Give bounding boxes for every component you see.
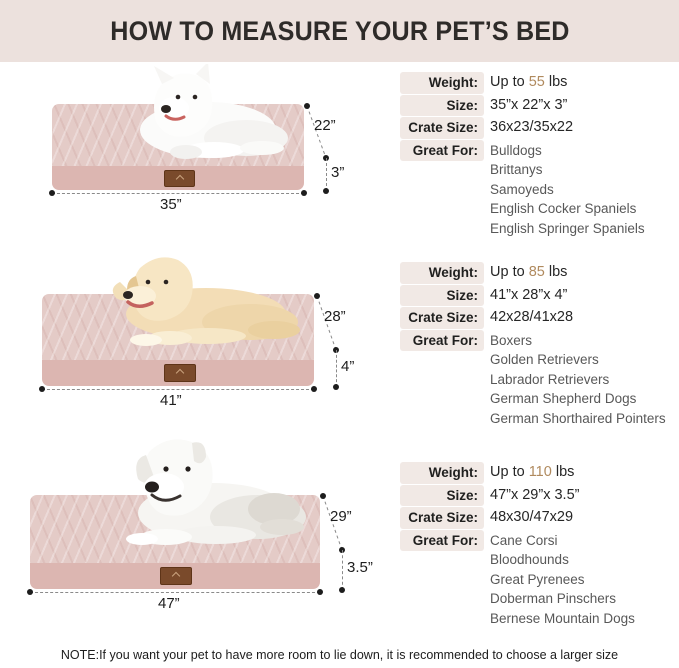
breed-item: Boxers xyxy=(490,331,666,351)
breed-item: Labrador Retrievers xyxy=(490,370,666,390)
bed-illustration-medium: 35” 22” 3” xyxy=(0,62,400,252)
bed-illustration-xlarge: 47” 29” 3.5” xyxy=(0,437,400,637)
spec-line-great-for: Great For: Boxers Golden Retrievers Labr… xyxy=(400,330,679,429)
dim-label-height: 3.5” xyxy=(347,559,373,576)
spec-line-size: Size: 35”x 22”x 3” xyxy=(400,95,679,117)
dim-dot xyxy=(304,103,310,109)
spec-label-weight: Weight: xyxy=(400,72,484,94)
spec-value-crate-size: 36x23/35x22 xyxy=(490,117,573,138)
breed-item: Bernese Mountain Dogs xyxy=(490,609,635,629)
spec-line-size: Size: 47”x 29”x 3.5” xyxy=(400,485,679,507)
dimline-height xyxy=(326,158,327,191)
spec-value-weight: Up to 55 lbs xyxy=(490,72,567,93)
spec-value-crate-size: 42x28/41x28 xyxy=(490,307,573,328)
dog-bed-xlarge xyxy=(30,495,320,595)
spec-label-size: Size: xyxy=(400,95,484,117)
weight-number: 110 xyxy=(529,464,552,480)
breed-item: Brittanys xyxy=(490,160,645,180)
bed-row-large: 41” 28” 4” Weight: Up to 85 lbs Size: 41… xyxy=(0,252,679,437)
bed-row-medium: 35” 22” 3” Weight: Up to 55 lbs Size: 35… xyxy=(0,62,679,252)
weight-number: 55 xyxy=(529,74,545,90)
spec-value-weight: Up to 85 lbs xyxy=(490,262,567,283)
breed-item: German Shepherd Dogs xyxy=(490,389,666,409)
dim-dot xyxy=(317,589,323,595)
dimline-length xyxy=(52,193,304,194)
spec-line-weight: Weight: Up to 85 lbs xyxy=(400,262,679,284)
spec-label-crate-size: Crate Size: xyxy=(400,307,484,329)
dim-label-length: 41” xyxy=(160,392,182,409)
spec-label-size: Size: xyxy=(400,485,484,507)
bed-top-surface xyxy=(42,294,314,362)
dim-label-height: 4” xyxy=(341,358,354,375)
spec-block-xlarge: Weight: Up to 110 lbs Size: 47”x 29”x 3.… xyxy=(400,437,679,629)
dim-label-length: 47” xyxy=(158,595,180,612)
spec-label-crate-size: Crate Size: xyxy=(400,507,484,529)
spec-line-great-for: Great For: Cane Corsi Bloodhounds Great … xyxy=(400,530,679,629)
weight-number: 85 xyxy=(529,264,545,280)
footer-note: NOTE:If you want your pet to have more r… xyxy=(0,648,679,662)
dim-dot xyxy=(27,589,33,595)
spec-value-size: 47”x 29”x 3.5” xyxy=(490,485,579,506)
page-header: HOW TO MEASURE YOUR PET’S BED xyxy=(0,0,679,62)
breed-list-large: Boxers Golden Retrievers Labrador Retrie… xyxy=(490,330,666,429)
bed-logo-tag xyxy=(164,170,195,187)
dim-label-width: 29” xyxy=(330,508,352,525)
page-title: HOW TO MEASURE YOUR PET’S BED xyxy=(110,16,569,47)
dim-label-width: 28” xyxy=(324,308,346,325)
spec-value-weight: Up to 110 lbs xyxy=(490,462,574,483)
bed-illustration-large: 41” 28” 4” xyxy=(0,252,400,437)
spec-block-large: Weight: Up to 85 lbs Size: 41”x 28”x 4” … xyxy=(400,252,679,429)
spec-block-medium: Weight: Up to 55 lbs Size: 35”x 22”x 3” … xyxy=(400,62,679,239)
dim-dot xyxy=(320,493,326,499)
breed-item: Great Pyrenees xyxy=(490,570,635,590)
dim-dot xyxy=(49,190,55,196)
spec-line-weight: Weight: Up to 110 lbs xyxy=(400,462,679,484)
bed-top-surface xyxy=(30,495,320,565)
spec-label-crate-size: Crate Size: xyxy=(400,117,484,139)
spec-value-size: 35”x 22”x 3” xyxy=(490,95,567,116)
spec-line-crate: Crate Size: 42x28/41x28 xyxy=(400,307,679,329)
dimline-length xyxy=(42,389,314,390)
spec-line-size: Size: 41”x 28”x 4” xyxy=(400,285,679,307)
breed-item: Bulldogs xyxy=(490,141,645,161)
dim-label-length: 35” xyxy=(160,196,182,213)
spec-line-great-for: Great For: Bulldogs Brittanys Samoyeds E… xyxy=(400,140,679,239)
dim-dot xyxy=(323,188,329,194)
breed-item: English Cocker Spaniels xyxy=(490,199,645,219)
dimline-length xyxy=(30,592,320,593)
breed-list-medium: Bulldogs Brittanys Samoyeds English Cock… xyxy=(490,140,645,239)
bed-top-surface xyxy=(52,104,304,168)
breed-list-xlarge: Cane Corsi Bloodhounds Great Pyrenees Do… xyxy=(490,530,635,629)
dim-dot xyxy=(314,293,320,299)
spec-line-crate: Crate Size: 36x23/35x22 xyxy=(400,117,679,139)
spec-label-great-for: Great For: xyxy=(400,330,484,352)
spec-value-crate-size: 48x30/47x29 xyxy=(490,507,573,528)
breed-item: Doberman Pinschers xyxy=(490,589,635,609)
bed-logo-tag xyxy=(160,567,192,585)
breed-item: Golden Retrievers xyxy=(490,350,666,370)
spec-line-weight: Weight: Up to 55 lbs xyxy=(400,72,679,94)
dim-dot xyxy=(301,190,307,196)
breed-item: Bloodhounds xyxy=(490,550,635,570)
breed-item: Cane Corsi xyxy=(490,531,635,551)
bed-logo-tag xyxy=(164,364,196,382)
spec-label-great-for: Great For: xyxy=(400,530,484,552)
dim-label-height: 3” xyxy=(331,164,344,181)
dog-bed-medium xyxy=(52,104,304,196)
spec-value-size: 41”x 28”x 4” xyxy=(490,285,567,306)
spec-label-weight: Weight: xyxy=(400,462,484,484)
spec-label-weight: Weight: xyxy=(400,262,484,284)
dim-dot xyxy=(39,386,45,392)
dim-label-width: 22” xyxy=(314,117,336,134)
spec-label-size: Size: xyxy=(400,285,484,307)
spec-label-great-for: Great For: xyxy=(400,140,484,162)
dim-dot xyxy=(333,384,339,390)
breed-item: German Shorthaired Pointers xyxy=(490,409,666,429)
dog-bed-large xyxy=(42,294,314,392)
bed-row-xlarge: 47” 29” 3.5” Weight: Up to 110 lbs Size:… xyxy=(0,437,679,637)
dimline-height xyxy=(336,350,337,387)
breed-item: English Springer Spaniels xyxy=(490,219,645,239)
spec-line-crate: Crate Size: 48x30/47x29 xyxy=(400,507,679,529)
dim-dot xyxy=(339,587,345,593)
breed-item: Samoyeds xyxy=(490,180,645,200)
dim-dot xyxy=(311,386,317,392)
dimline-height xyxy=(342,550,343,590)
